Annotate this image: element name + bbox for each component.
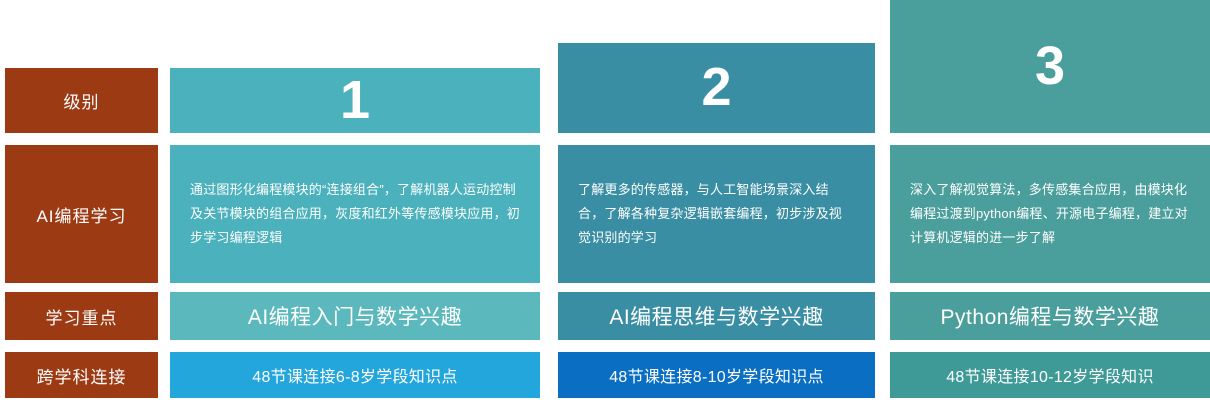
level-cross-subject-3-text: 48节课连接10-12岁学段知识 xyxy=(946,363,1154,387)
level-description-2-text: 了解更多的传感器，与人工智能场景深入结合，了解各种复杂逻辑嵌套编程，初步涉及视觉… xyxy=(578,178,855,250)
level-number-1: 1 xyxy=(340,73,370,127)
level-focus-1-text: AI编程入门与数学兴趣 xyxy=(248,301,462,331)
row-label-level-text: 级别 xyxy=(64,88,100,113)
level-description-2: 了解更多的传感器，与人工智能场景深入结合，了解各种复杂逻辑嵌套编程，初步涉及视觉… xyxy=(558,145,875,283)
row-label-ai-study: AI编程学习 xyxy=(5,145,158,283)
row-label-focus-text: 学习重点 xyxy=(46,304,118,329)
course-level-comparison-table: 级别 AI编程学习 学习重点 跨学科连接 1 2 3 通过图形化编程模块的“连接… xyxy=(0,0,1210,408)
level-number-2: 2 xyxy=(701,60,731,114)
row-label-focus: 学习重点 xyxy=(5,292,158,340)
level-description-1-text: 通过图形化编程模块的“连接组合”，了解机器人运动控制及关节模块的组合应用，灰度和… xyxy=(190,178,520,250)
row-label-ai-study-text: AI编程学习 xyxy=(36,202,126,227)
row-label-level: 级别 xyxy=(5,68,158,133)
level-focus-3: Python编程与数学兴趣 xyxy=(890,292,1210,340)
level-header-3: 3 xyxy=(890,0,1210,133)
row-label-cross-subject: 跨学科连接 xyxy=(5,352,158,398)
level-description-3-text: 深入了解视觉算法，多传感集合应用，由模块化编程过渡到python编程、开源电子编… xyxy=(910,178,1190,250)
level-cross-subject-1-text: 48节课连接6-8岁学段知识点 xyxy=(252,363,457,387)
level-number-3: 3 xyxy=(1035,39,1065,93)
level-focus-3-text: Python编程与数学兴趣 xyxy=(941,301,1160,331)
level-cross-subject-2: 48节课连接8-10岁学段知识点 xyxy=(558,352,875,398)
level-description-3: 深入了解视觉算法，多传感集合应用，由模块化编程过渡到python编程、开源电子编… xyxy=(890,145,1210,283)
row-label-cross-subject-text: 跨学科连接 xyxy=(37,363,127,388)
level-description-1: 通过图形化编程模块的“连接组合”，了解机器人运动控制及关节模块的组合应用，灰度和… xyxy=(170,145,540,283)
level-cross-subject-3: 48节课连接10-12岁学段知识 xyxy=(890,352,1210,398)
level-header-2: 2 xyxy=(558,43,875,133)
level-header-1: 1 xyxy=(170,68,540,133)
level-focus-2: AI编程思维与数学兴趣 xyxy=(558,292,875,340)
level-focus-2-text: AI编程思维与数学兴趣 xyxy=(609,301,823,331)
level-cross-subject-1: 48节课连接6-8岁学段知识点 xyxy=(170,352,540,398)
level-cross-subject-2-text: 48节课连接8-10岁学段知识点 xyxy=(609,363,824,387)
level-focus-1: AI编程入门与数学兴趣 xyxy=(170,292,540,340)
